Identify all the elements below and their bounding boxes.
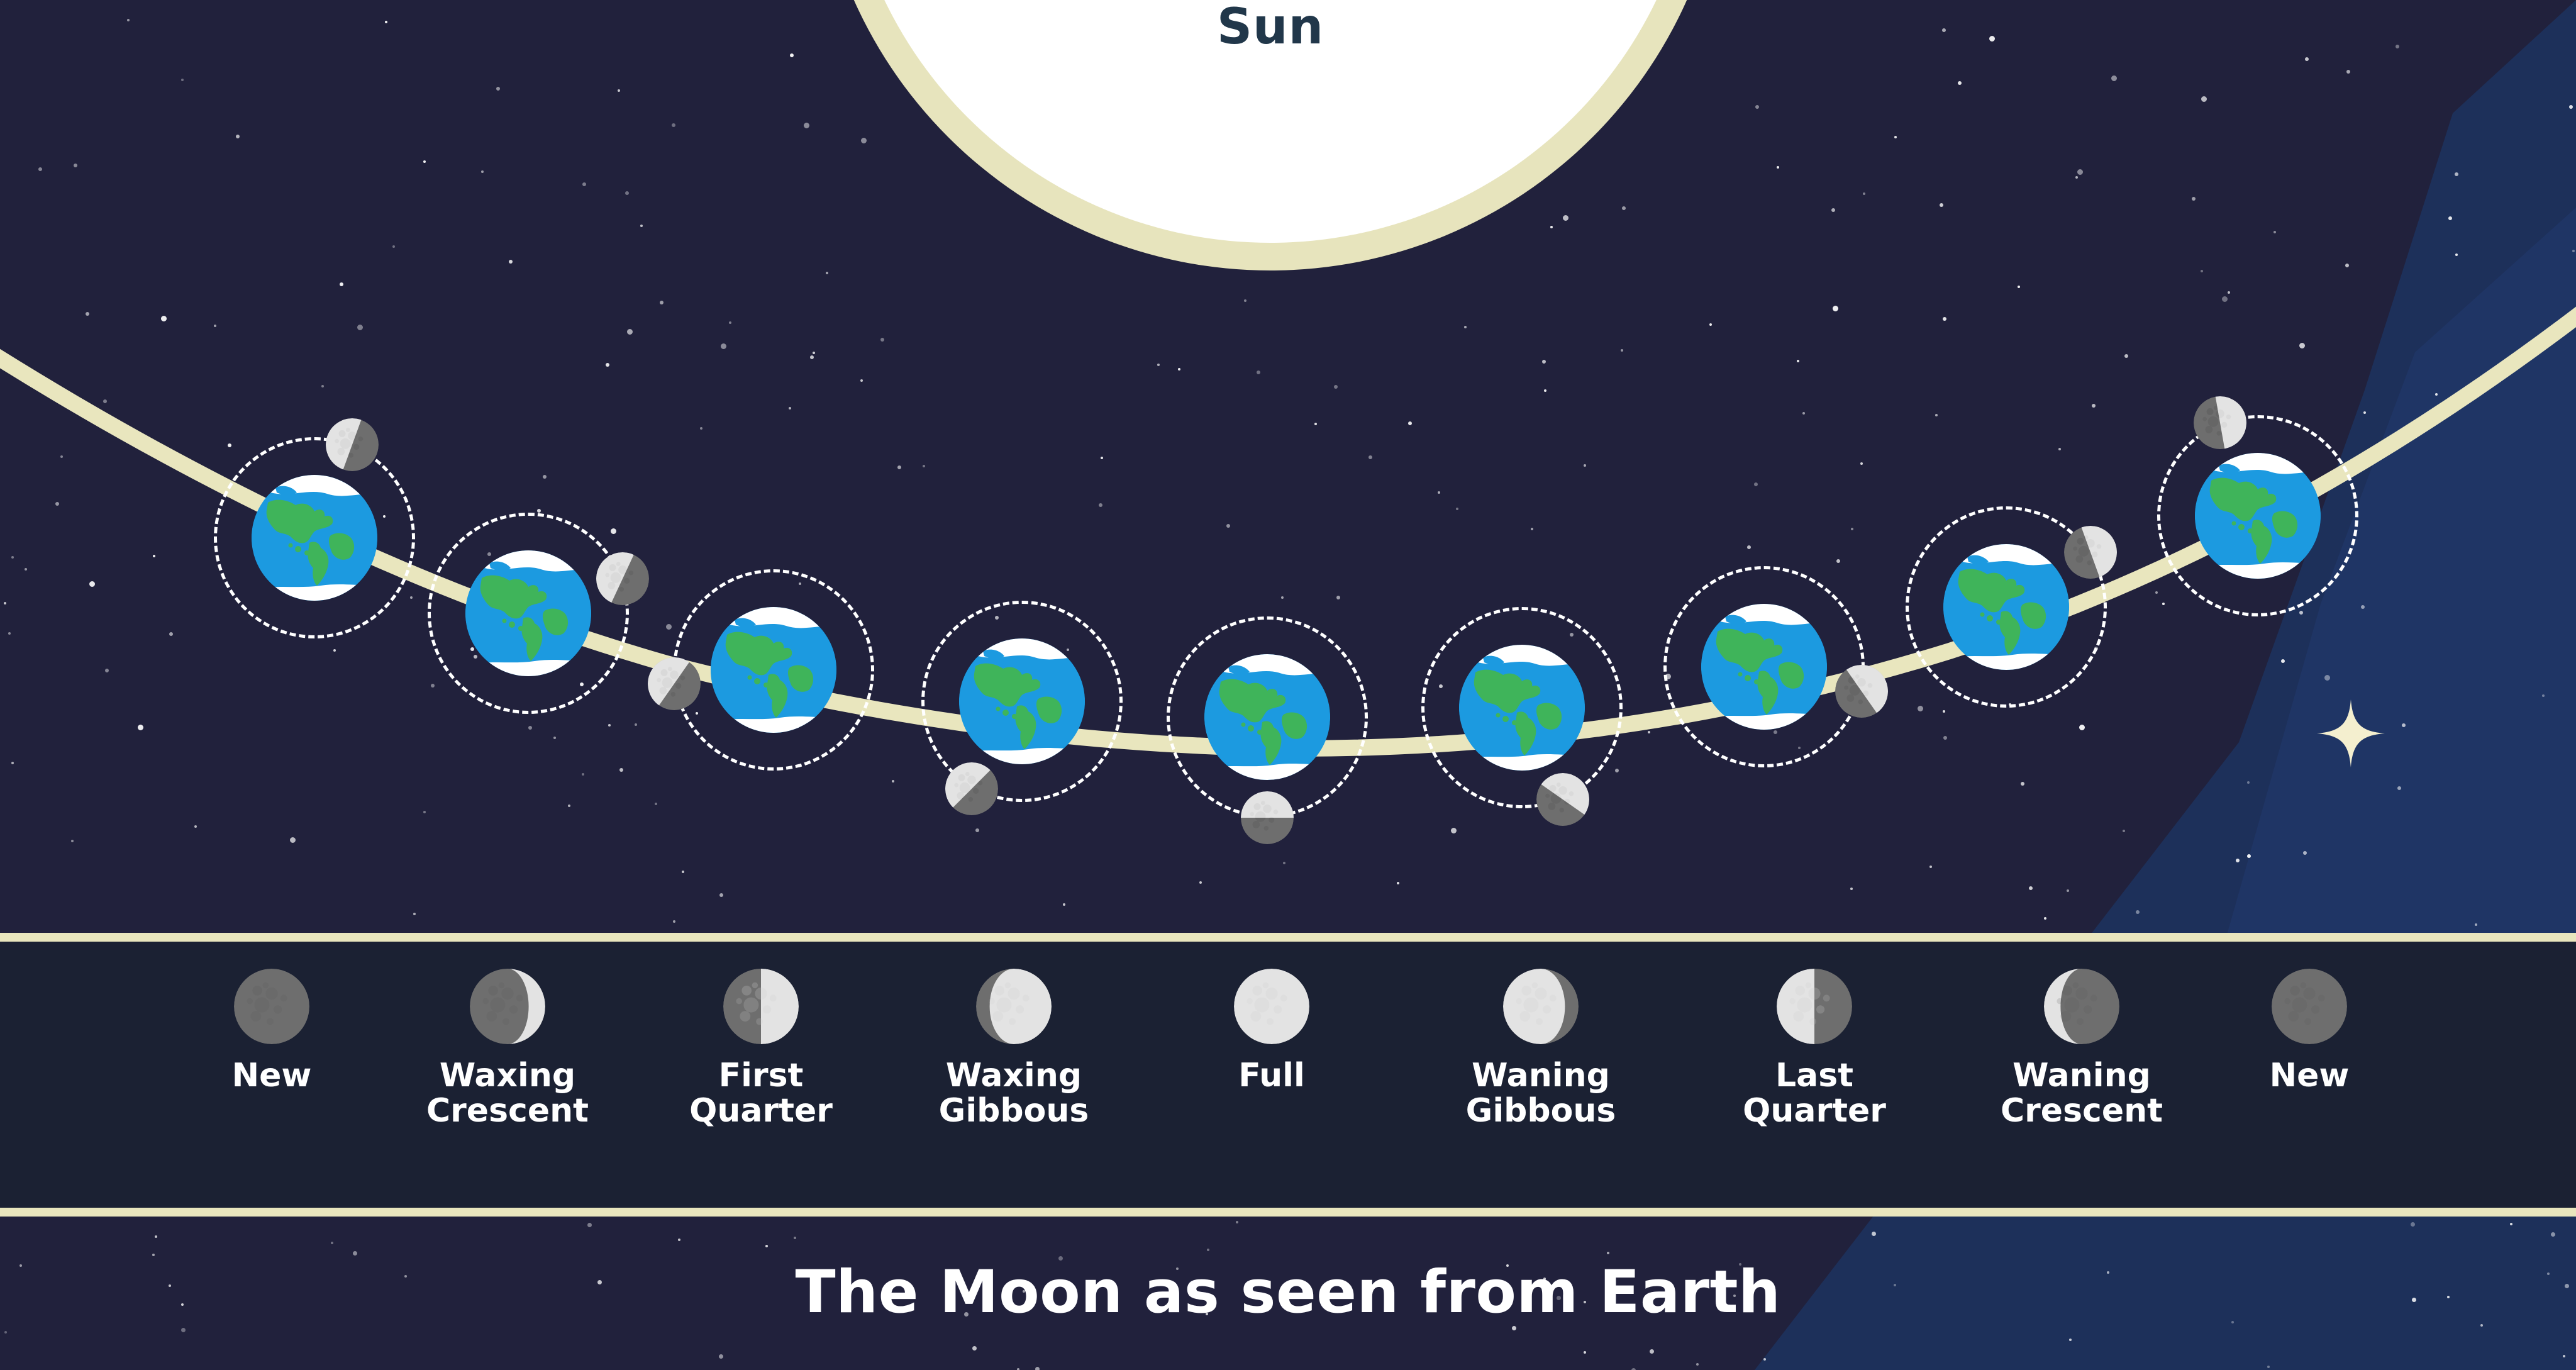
legend-item-label: Waxing Crescent: [401, 1058, 614, 1128]
earth-globe-icon: [465, 550, 591, 676]
earth-globe: [1204, 654, 1330, 780]
moon-phase-icon: [976, 969, 1052, 1044]
page-title: The Moon as seen from Earth: [0, 1258, 2576, 1327]
legend-moon-icon: [1777, 969, 1852, 1044]
earth-globe-icon: [2195, 453, 2321, 579]
legend-moon-icon: [1503, 969, 1579, 1044]
moon-phase-icon: [2272, 969, 2347, 1044]
legend-item-label: Last Quarter: [1707, 1058, 1921, 1128]
earth-moon-system: [2113, 371, 2402, 660]
legend-moon-icon: [2272, 969, 2347, 1044]
earth-globe-icon: [959, 638, 1085, 764]
legend-moon-icon: [234, 969, 309, 1044]
earth-moon-system: [1123, 572, 1412, 862]
moon-icon: [326, 418, 379, 471]
moon-icon: [1536, 773, 1589, 826]
legend-top-divider: [0, 933, 2576, 942]
moon-phase-icon: [1234, 969, 1309, 1044]
legend-item[interactable]: Waning Crescent: [1975, 969, 2189, 1128]
legend-moon-icon: [470, 969, 545, 1044]
legend-item[interactable]: Last Quarter: [1707, 969, 1921, 1128]
orbiting-moon: [1241, 791, 1294, 844]
legend-moon-icon: [723, 969, 799, 1044]
moon-phase-icon: [1503, 969, 1579, 1044]
moon-phase-icon: [234, 969, 309, 1044]
earth-globe: [252, 475, 377, 601]
earth-moon-system: [1862, 462, 2151, 752]
moon-icon: [1241, 791, 1294, 844]
legend-item[interactable]: New: [2202, 969, 2416, 1093]
orbiting-moon: [2194, 396, 2246, 449]
orbiting-moon: [1536, 773, 1589, 826]
legend-item-label: Waxing Gibbous: [907, 1058, 1121, 1128]
moon-icon: [648, 657, 701, 710]
earth-globe: [1459, 645, 1585, 771]
earth-moon-system: [629, 525, 918, 815]
earth-globe: [465, 550, 591, 676]
legend-item[interactable]: First Quarter: [654, 969, 868, 1128]
earth-globe-icon: [711, 607, 836, 733]
earth-globe-icon: [1204, 654, 1330, 780]
earth-globe: [1943, 544, 2069, 670]
moon-phase-icon: [470, 969, 545, 1044]
legend-item-label: Waning Crescent: [1975, 1058, 2189, 1128]
earth-globe-icon: [1701, 604, 1827, 730]
legend-item[interactable]: Waxing Gibbous: [907, 969, 1121, 1128]
legend-item[interactable]: Waning Gibbous: [1434, 969, 1648, 1128]
legend-item[interactable]: Waxing Crescent: [401, 969, 614, 1128]
moon-icon: [945, 762, 998, 815]
orbiting-moon: [2064, 526, 2117, 579]
earth-globe: [959, 638, 1085, 764]
legend-item-label: Full: [1165, 1058, 1379, 1093]
legend-item[interactable]: Full: [1165, 969, 1379, 1093]
earth-globe: [1701, 604, 1827, 730]
earth-globe: [2195, 453, 2321, 579]
legend-bottom-divider: [0, 1208, 2576, 1217]
orbiting-moon: [326, 418, 379, 471]
legend-moon-icon: [976, 969, 1052, 1044]
earth-globe: [711, 607, 836, 733]
moon-icon: [2194, 396, 2246, 449]
moon-phase-icon: [2044, 969, 2119, 1044]
orbiting-moon: [945, 762, 998, 815]
earth-globe-icon: [1459, 645, 1585, 771]
legend-item-label: First Quarter: [654, 1058, 868, 1128]
earth-globe-icon: [252, 475, 377, 601]
legend-moon-icon: [1234, 969, 1309, 1044]
legend-item-label: New: [2202, 1058, 2416, 1093]
legend-item-label: New: [165, 1058, 379, 1093]
moon-icon: [2064, 526, 2117, 579]
legend-moon-icon: [2044, 969, 2119, 1044]
moon-phase-icon: [1777, 969, 1852, 1044]
legend-item-label: Waning Gibbous: [1434, 1058, 1648, 1128]
legend-item[interactable]: New: [165, 969, 379, 1093]
earth-globe-icon: [1943, 544, 2069, 670]
moon-phase-icon: [723, 969, 799, 1044]
moon-phases-infographic: Sun: [0, 0, 2576, 1370]
orbiting-moon: [648, 657, 701, 710]
